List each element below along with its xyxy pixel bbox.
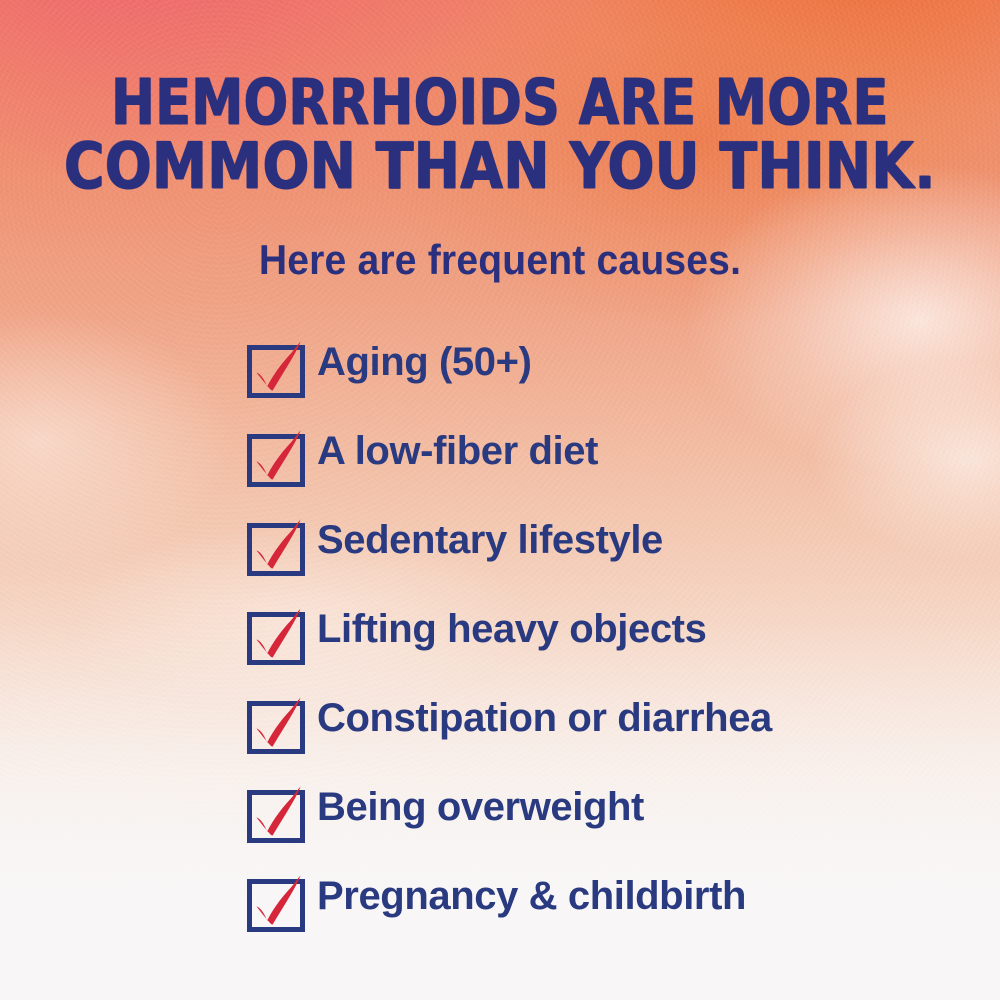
infographic-poster: HEMORRHOIDS ARE MORE COMMON THAN YOU THI… [0, 0, 1000, 1000]
list-item: A low-fiber diet [243, 407, 983, 496]
headline-line-2: COMMON THAN YOU THINK. [23, 136, 978, 199]
list-item: Sedentary lifestyle [243, 496, 983, 585]
checked-checkbox-icon[interactable] [243, 328, 305, 398]
list-item: Pregnancy & childbirth [243, 852, 983, 941]
list-item: Being overweight [243, 763, 983, 852]
list-item: Lifting heavy objects [243, 585, 983, 674]
poster-content: HEMORRHOIDS ARE MORE COMMON THAN YOU THI… [0, 0, 1000, 1000]
checked-checkbox-icon[interactable] [243, 417, 305, 487]
list-item: Constipation or diarrhea [243, 674, 983, 763]
checked-checkbox-icon[interactable] [243, 862, 305, 932]
list-item-label: Lifting heavy objects [317, 607, 706, 652]
checked-checkbox-icon[interactable] [243, 684, 305, 754]
checked-checkbox-icon[interactable] [243, 595, 305, 665]
checked-checkbox-icon[interactable] [243, 506, 305, 576]
list-item: Aging (50+) [243, 318, 983, 407]
checked-checkbox-icon[interactable] [243, 773, 305, 843]
headline: HEMORRHOIDS ARE MORE COMMON THAN YOU THI… [0, 72, 1000, 198]
list-item-label: Constipation or diarrhea [317, 696, 772, 741]
causes-list: Aging (50+) A low-fiber diet [243, 318, 983, 941]
list-item-label: Sedentary lifestyle [317, 518, 663, 563]
list-item-label: A low-fiber diet [317, 429, 598, 474]
list-item-label: Being overweight [317, 785, 644, 830]
subtitle: Here are frequent causes. [35, 236, 965, 284]
headline-line-1: HEMORRHOIDS ARE MORE [40, 72, 960, 134]
list-item-label: Pregnancy & childbirth [317, 874, 746, 919]
list-item-label: Aging (50+) [317, 340, 532, 385]
